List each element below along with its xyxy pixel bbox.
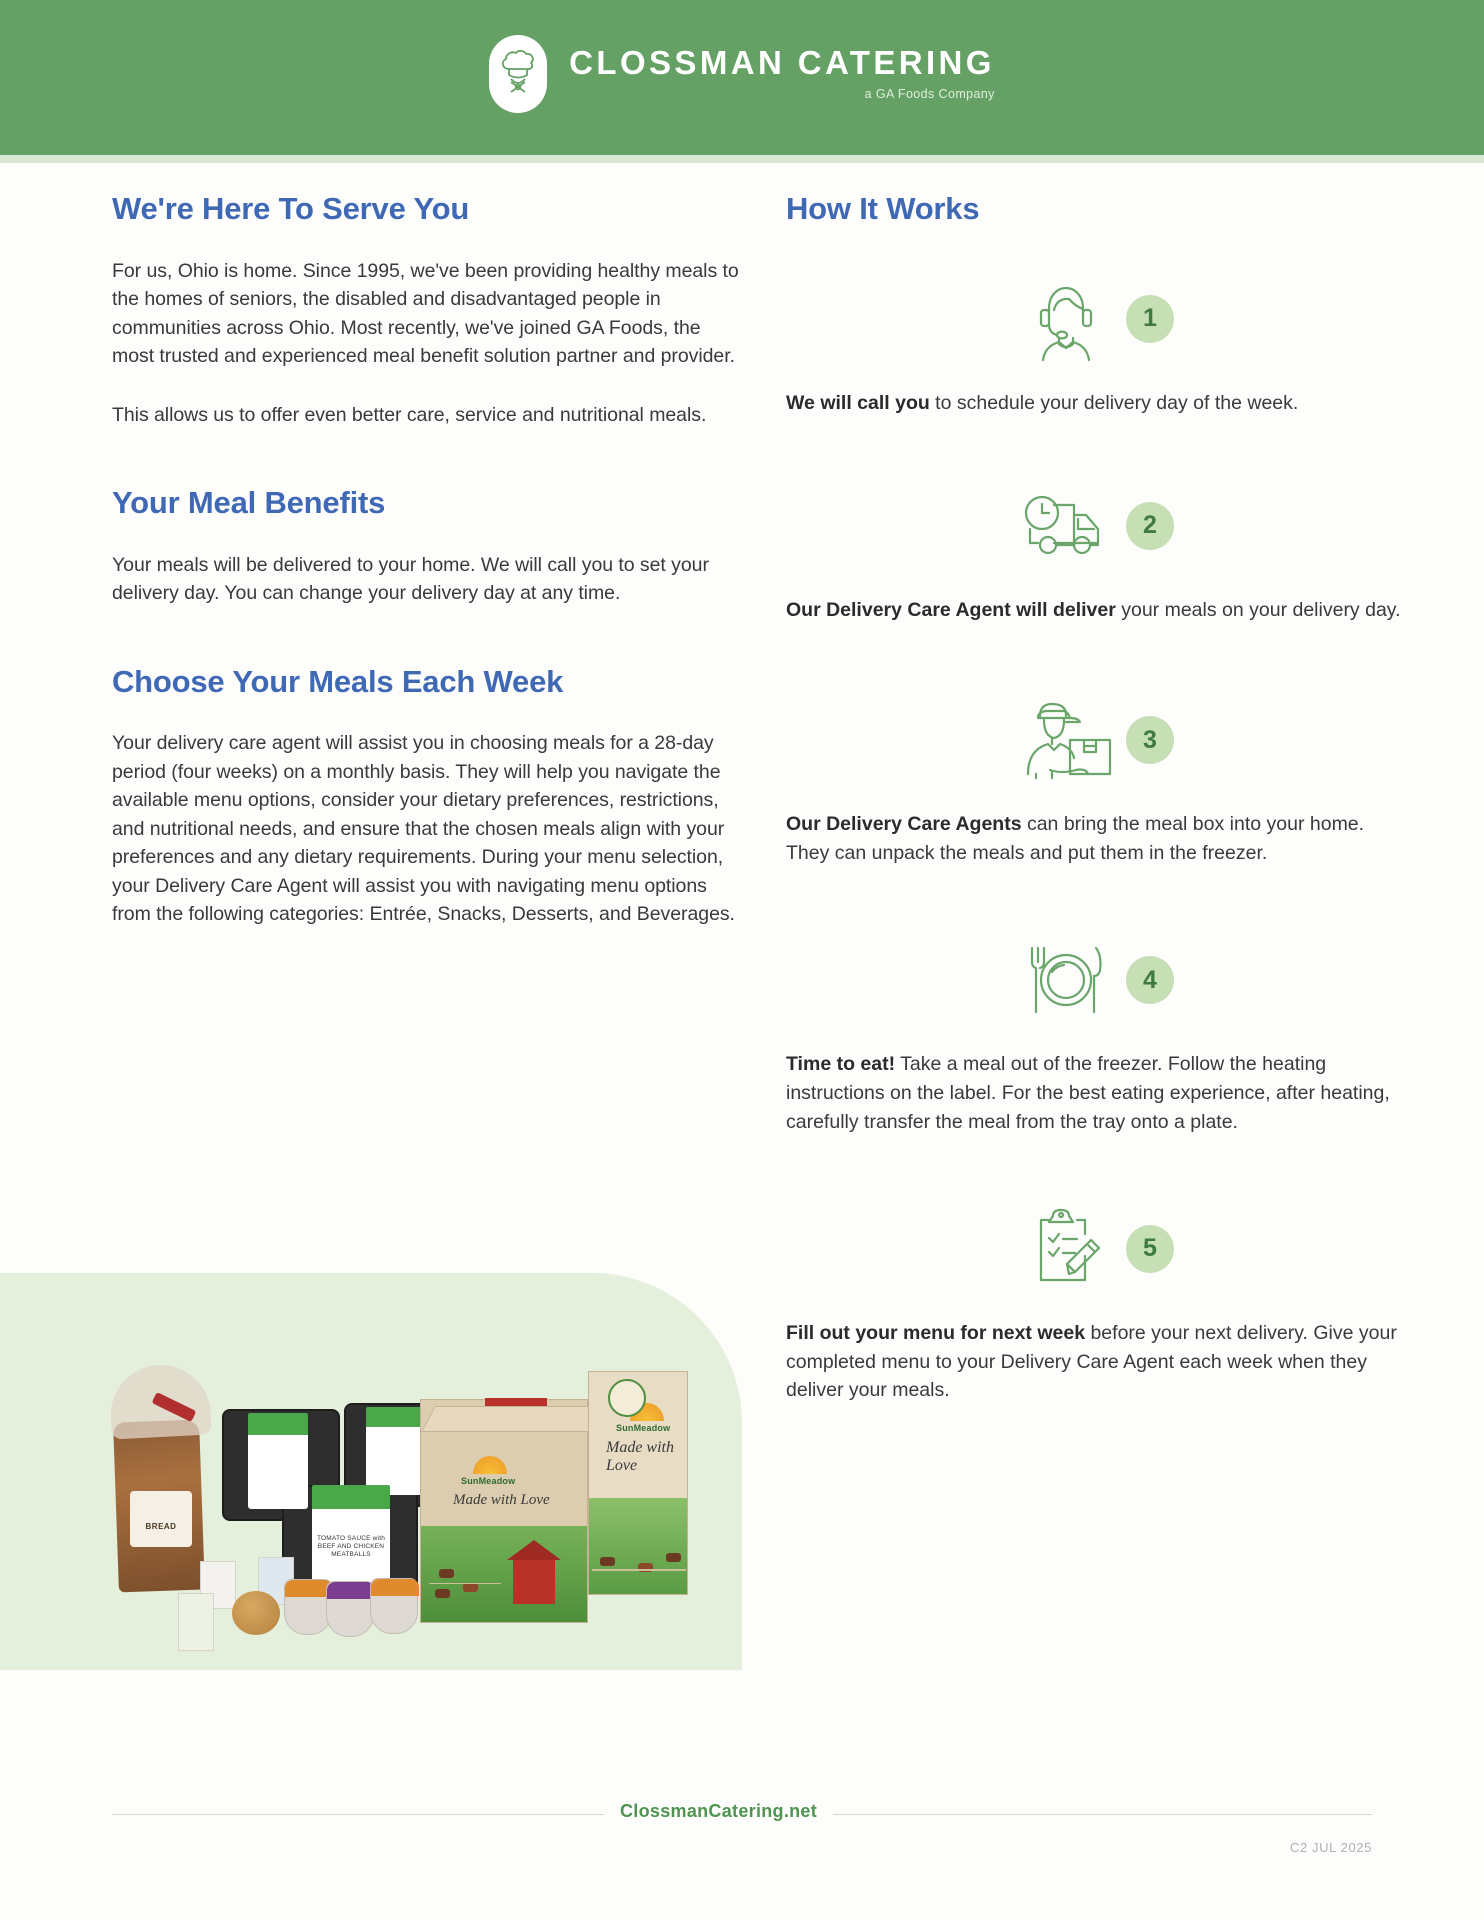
heading-your-meal-benefits: Your Meal Benefits	[112, 485, 742, 521]
box-flap	[421, 1406, 603, 1432]
page-footer: ClossmanCatering.net C2 JUL 2025	[0, 1788, 1484, 1920]
step-3-visual: 3	[786, 688, 1406, 792]
box-front-panel: SunMeadow Made with Love	[420, 1399, 588, 1623]
cow	[638, 1563, 653, 1572]
delivery-person-box-icon	[1018, 692, 1114, 788]
cow	[439, 1569, 454, 1578]
tray-lid	[248, 1429, 308, 1509]
step-2-number-badge: 2	[1126, 502, 1174, 550]
right-column: How It Works	[786, 191, 1406, 1405]
step-5-text: Fill out your menu for next week before …	[786, 1319, 1406, 1406]
step-3-text-bold: Our Delivery Care Agents	[786, 813, 1022, 835]
heading-choose-your-meals-each-week: Choose Your Meals Each Week	[112, 664, 742, 700]
step-1-text-bold: We will call you	[786, 392, 930, 414]
step-4: 4 Time to eat! Take a meal out of the fr…	[786, 928, 1406, 1137]
paragraph-about-intro: For us, Ohio is home. Since 1995, we've …	[112, 257, 742, 371]
step-1-text: We will call you to schedule your delive…	[786, 389, 1406, 418]
step-2-visual: 2	[786, 474, 1406, 578]
footer-doc-code: C2 JUL 2025	[1290, 1840, 1372, 1855]
step-2-text-bold: Our Delivery Care Agent will deliver	[786, 599, 1116, 621]
paragraph-choose-meals: Your delivery care agent will assist you…	[112, 729, 742, 928]
barn-roof	[507, 1540, 561, 1560]
step-4-text-bold: Time to eat!	[786, 1053, 895, 1075]
sun-icon	[473, 1456, 507, 1474]
heading-how-it-works: How It Works	[786, 191, 1406, 227]
page-header: CLOSSMAN CATERING a GA Foods Company	[0, 0, 1484, 155]
tray-label: TOMATO SAUCE with BEEF AND CHICKEN MEATB…	[313, 1535, 389, 1559]
heading-were-here-to-serve-you: We're Here To Serve You	[112, 191, 742, 227]
brand-text-block: CLOSSMAN CATERING a GA Foods Company	[569, 46, 995, 102]
bread-label: BREAD	[130, 1491, 192, 1547]
cow	[463, 1583, 478, 1592]
step-5: 5 Fill out your menu for next week befor…	[786, 1197, 1406, 1406]
header-accent-stripe	[0, 155, 1484, 163]
brand-name: CLOSSMAN CATERING	[569, 46, 995, 81]
brand-tagline: a GA Foods Company	[865, 87, 995, 101]
step-5-text-bold: Fill out your menu for next week	[786, 1322, 1085, 1344]
paragraph-meal-benefits: Your meals will be delivered to your hom…	[112, 551, 742, 608]
flyer-page: CLOSSMAN CATERING a GA Foods Company We'…	[0, 0, 1484, 1920]
cookie	[232, 1591, 280, 1635]
box-slogan-side: Made with Love	[606, 1439, 688, 1475]
tray-lid-strip	[312, 1485, 390, 1509]
barn	[513, 1560, 555, 1604]
step-4-visual: 4	[786, 928, 1406, 1032]
step-2: 2 Our Delivery Care Agent will deliver y…	[786, 474, 1406, 625]
step-3: 3 Our Delivery Care Agents can bring the…	[786, 688, 1406, 868]
snack-packet	[178, 1593, 214, 1651]
step-5-number-badge: 5	[1126, 1225, 1174, 1273]
meal-box-photo-panel: BREAD TOMATO SAUCE with BEEF AND CHICKEN…	[0, 1273, 742, 1670]
dessert-cup	[370, 1578, 418, 1634]
chef-hat-icon	[489, 35, 547, 113]
dessert-cup-lid	[327, 1582, 375, 1599]
step-3-text: Our Delivery Care Agents can bring the m…	[786, 810, 1406, 868]
paragraph-about-followup: This allows us to offer even better care…	[112, 401, 742, 429]
dessert-cup-lid	[371, 1579, 419, 1596]
box-brand-front: SunMeadow	[461, 1476, 515, 1486]
step-1-visual: 1	[786, 267, 1406, 371]
step-1-number-badge: 1	[1126, 295, 1174, 343]
delivery-truck-clock-icon	[1018, 478, 1114, 574]
step-3-number-badge: 3	[1126, 716, 1174, 764]
box-seal-badge	[608, 1379, 646, 1417]
step-2-text-rest: your meals on your delivery day.	[1116, 599, 1401, 621]
meal-box-photo: BREAD TOMATO SAUCE with BEEF AND CHICKEN…	[0, 1273, 742, 1670]
fence	[592, 1569, 686, 1571]
box-side-field-art	[589, 1498, 687, 1594]
step-4-number-badge: 4	[1126, 956, 1174, 1004]
box-brand-side: SunMeadow	[616, 1423, 670, 1433]
step-4-text: Time to eat! Take a meal out of the free…	[786, 1050, 1406, 1137]
tray-lid-strip	[366, 1407, 422, 1427]
fence	[429, 1583, 501, 1585]
step-1: 1 We will call you to schedule your deli…	[786, 267, 1406, 418]
brand-lockup: CLOSSMAN CATERING a GA Foods Company	[489, 35, 995, 113]
tray-lid-strip	[248, 1413, 308, 1435]
step-1-text-rest: to schedule your delivery day of the wee…	[930, 392, 1299, 414]
dessert-cup	[284, 1579, 332, 1635]
step-5-visual: 5	[786, 1197, 1406, 1301]
sunmeadow-meal-box: SunMeadow Made with Love SunMeadow Made	[420, 1371, 688, 1623]
left-column: We're Here To Serve You For us, Ohio is …	[112, 191, 742, 928]
cow	[600, 1557, 615, 1566]
box-slogan-front: Made with Love	[453, 1492, 550, 1509]
dessert-cup	[326, 1581, 374, 1637]
footer-website-link[interactable]: ClossmanCatering.net	[604, 1801, 833, 1822]
clipboard-checklist-pencil-icon	[1018, 1201, 1114, 1297]
step-2-text: Our Delivery Care Agent will deliver you…	[786, 596, 1406, 625]
plate-fork-knife-icon	[1018, 932, 1114, 1028]
cow	[435, 1589, 450, 1598]
headset-agent-icon	[1018, 271, 1114, 367]
cow	[666, 1553, 681, 1562]
